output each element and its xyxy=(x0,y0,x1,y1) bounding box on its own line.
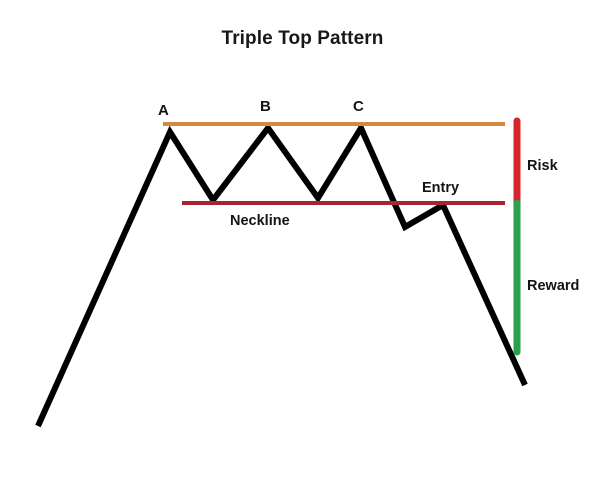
peak-label-b: B xyxy=(260,98,271,115)
triple-top-plot xyxy=(0,0,605,502)
entry-label: Entry xyxy=(422,180,459,196)
chart-canvas: Triple Top Pattern A B C Neckline Entry … xyxy=(0,0,605,502)
peak-label-a: A xyxy=(158,102,169,119)
reward-label: Reward xyxy=(527,278,579,294)
price-line xyxy=(38,128,525,426)
neckline-label: Neckline xyxy=(230,213,290,229)
risk-label: Risk xyxy=(527,158,558,174)
peak-label-c: C xyxy=(353,98,364,115)
